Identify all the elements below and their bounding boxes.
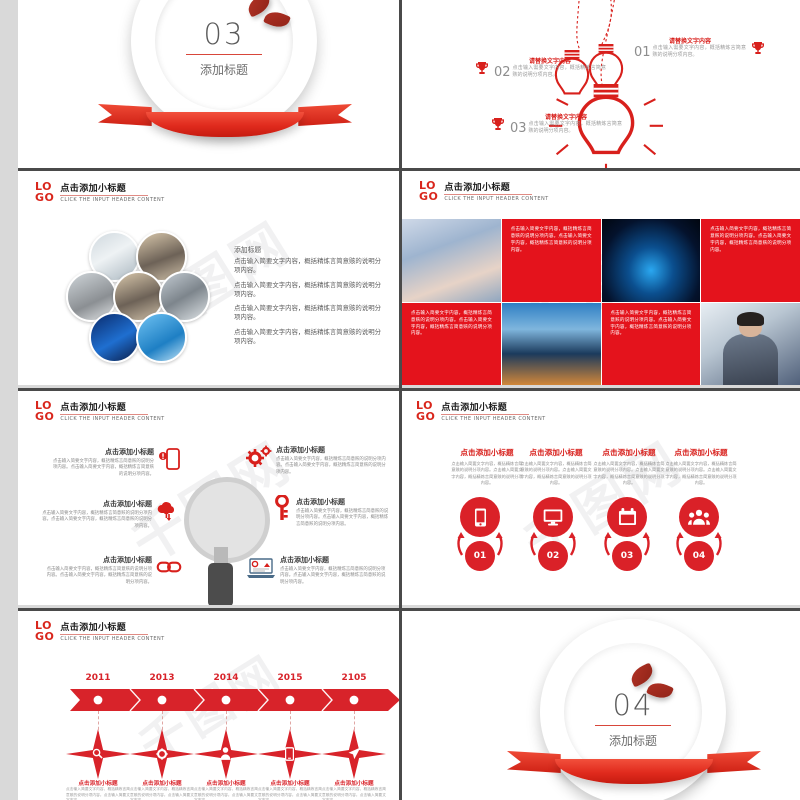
item-title: 点击添加小标题 xyxy=(50,447,154,457)
person-icon xyxy=(220,747,231,760)
timeline-body-5: 点击输入简要文字内容，概括精炼言简意赅的说明分项内容。点击输入简要文字内容。 xyxy=(322,787,386,800)
slide-timeline[interactable]: 千图网 LO GO 点击添加小标题 CLICK THE INPUT HEADER… xyxy=(18,611,399,800)
magnifier-item-2[interactable]: 点击添加小标题 点击输入简要文字内容，概括精炼言简意赅的说明分项内容。点击输入简… xyxy=(276,445,386,476)
header-rule xyxy=(60,634,148,635)
timeline-year-1: 2011 xyxy=(68,673,128,683)
ribbon-band xyxy=(146,112,304,137)
header-title-cn: 点击添加小标题 xyxy=(441,400,545,413)
photo-circle-7[interactable] xyxy=(136,312,187,363)
magnifier-handle xyxy=(208,563,233,605)
item-body: 点击输入简要文字内容，概括精炼言简意赅的说明分项内容。点击输入简要文字内容，概括… xyxy=(450,461,524,486)
item-body: 点击输入简要文字内容，概括精炼言简意赅的说明分项内容。点击输入简要文字内容，概括… xyxy=(592,461,666,486)
cell-businessman-photo[interactable] xyxy=(701,303,800,386)
timeline-chevron-bar xyxy=(70,689,399,711)
cell-night-city-photo[interactable] xyxy=(502,303,601,386)
bulb-item-body: 点击输入需要文字内容，概括精炼言简意赅的说明分项内容。 xyxy=(513,65,606,80)
bulb-item-01[interactable]: 请替换文字内容 01 点击输入需要文字内容，概括精炼言简意赅的说明分项内容。 xyxy=(634,36,746,60)
gear-icon xyxy=(156,748,168,760)
logo-line-2: GO xyxy=(35,192,54,203)
slide-photo-cluster[interactable]: 千图网 LO GO 点击添加小标题 CLICK THE INPUT HEADER… xyxy=(18,171,399,385)
header-title-cn: 点击添加小标题 xyxy=(444,180,548,193)
cluster-paragraph: 点击输入简要文字内容，概括精炼言简意赅的说明分项内容。 xyxy=(234,304,384,323)
slide-header: LO GO 点击添加小标题 CLICK THE INPUT HEADER CON… xyxy=(35,400,165,422)
timeline-body-3: 点击输入简要文字内容，概括精炼言简意赅的说明分项内容。点击输入简要文字内容。 xyxy=(194,787,258,800)
logo: LO GO xyxy=(35,181,54,203)
bulb-item-body: 点击输入需要文字内容，概括精炼言简意赅的说明分项内容。 xyxy=(653,45,746,60)
number-badge-02[interactable]: 02 xyxy=(538,541,568,571)
magnifier-item-4[interactable]: 点击添加小标题 点击输入简要文字内容，概括精炼言简意赅的说明分项内容。点击输入简… xyxy=(296,497,390,528)
slide-header: LO GO 点击添加小标题 CLICK THE INPUT HEADER CON… xyxy=(419,180,549,202)
divider-rule xyxy=(186,54,262,55)
timeline-body-2: 点击输入简要文字内容，概括精炼言简意赅的说明分项内容。点击输入简要文字内容。 xyxy=(130,787,194,800)
item-title: 点击添加小标题 xyxy=(519,447,593,458)
item-body: 点击输入简要文字内容，概括精炼言简意赅的说明分项内容。点击输入简要文字内容，概括… xyxy=(519,461,593,486)
logo-line-2: GO xyxy=(35,631,54,642)
header-title-cn: 点击添加小标题 xyxy=(60,400,164,413)
bulb-item-title: 请替换文字内容 xyxy=(494,56,606,65)
timeline-title-4: 点击添加小标题 xyxy=(258,779,322,787)
logo-line-2: GO xyxy=(416,411,435,422)
item-title: 点击添加小标题 xyxy=(450,447,524,458)
logo-line-2: GO xyxy=(35,411,54,422)
item-title: 点击添加小标题 xyxy=(276,445,386,455)
bulb-item-title: 请替换文字内容 xyxy=(510,112,622,121)
cell-blue-earth-photo[interactable] xyxy=(602,219,701,302)
slide-header: LO GO 点击添加小标题 CLICK THE INPUT HEADER CON… xyxy=(35,181,165,203)
item-body: 点击输入简要文字内容，概括精炼言简意赅的说明分项内容。点击输入简要文字内容，概括… xyxy=(40,511,152,530)
logo: LO GO xyxy=(419,180,438,202)
item-body: 点击输入简要文字内容，概括精炼言简意赅的说明分项内容。点击输入简要文字内容，概括… xyxy=(44,567,152,586)
photo-circle-6[interactable] xyxy=(89,312,140,363)
bulb-item-02[interactable]: 请替换文字内容 02 点击输入需要文字内容，概括精炼言简意赅的说明分项内容。 xyxy=(494,56,606,80)
bulb-item-03[interactable]: 请替换文字内容 03 点击输入需要文字内容，概括精炼言简意赅的说明分项内容。 xyxy=(510,112,622,136)
smartphone-icon xyxy=(474,508,487,527)
trophy-icon-01 xyxy=(750,40,766,56)
cell-body: 点击输入简要文字内容，概括精炼言简意赅的说明分项内容。点击输入简要文字内容，概括… xyxy=(610,311,691,339)
slide-grid: 03 添加标题 xyxy=(18,0,800,800)
circle-text-1: 点击添加小标题 点击输入简要文字内容，概括精炼言简意赅的说明分项内容。点击输入简… xyxy=(450,447,524,486)
divider-rule xyxy=(595,725,671,726)
item-title: 点击添加小标题 xyxy=(280,555,388,565)
magnifier-item-3[interactable]: 点击添加小标题 点击输入简要文字内容，概括精炼言简意赅的说明分项内容。点击输入简… xyxy=(40,499,152,530)
calendar-icon xyxy=(618,508,637,526)
trophy-icon-02 xyxy=(474,60,490,76)
cell-text[interactable]: 点击输入简要文字内容，概括精炼言简意赅的说明分项内容。点击输入简要文字内容，概括… xyxy=(502,219,601,302)
cell-text[interactable]: 点击输入简要文字内容，概括精炼言简意赅的说明分项内容。点击输入简要文字内容，概括… xyxy=(602,303,701,386)
number-badge-04[interactable]: 04 xyxy=(684,541,714,571)
header-title-en: CLICK THE INPUT HEADER CONTENT xyxy=(441,416,545,422)
cell-city-buildings-photo[interactable] xyxy=(402,219,501,302)
cell-body: 点击输入简要文字内容，概括精炼言简意赅的说明分项内容。点击输入简要文字内容，概括… xyxy=(710,227,791,255)
cloud-sync-icon xyxy=(155,499,179,523)
bulb-item-number: 01 xyxy=(634,45,651,60)
logo: LO GO xyxy=(35,400,54,422)
bulb-item-number: 02 xyxy=(494,65,511,80)
item-body: 点击输入简要文字内容，概括精炼言简意赅的说明分项内容。点击输入简要文字内容，概括… xyxy=(280,567,388,586)
cell-text[interactable]: 点击输入简要文字内容，概括精炼言简意赅的说明分项内容。点击输入简要文字内容，概括… xyxy=(701,219,800,302)
trophy-icon-03 xyxy=(490,116,506,132)
cluster-title: 添加标题 xyxy=(234,244,384,254)
timeline-title-1: 点击添加小标题 xyxy=(66,779,130,787)
cell-body: 点击输入简要文字内容，概括精炼言简意赅的说明分项内容。点击输入简要文字内容，概括… xyxy=(511,227,592,255)
item-title: 点击添加小标题 xyxy=(44,555,152,565)
logo: LO GO xyxy=(416,400,435,422)
bulb-item-title: 请替换文字内容 xyxy=(634,36,746,45)
thumbnail-sheet: 03 添加标题 xyxy=(0,0,800,800)
divider-number: 03 xyxy=(155,17,293,51)
key-icon xyxy=(274,495,290,521)
mobile-icon xyxy=(285,747,294,761)
circle-text-2: 点击添加小标题 点击输入简要文字内容，概括精炼言简意赅的说明分项内容。点击输入简… xyxy=(519,447,593,486)
timeline-title-2: 点击添加小标题 xyxy=(130,779,194,787)
people-icon xyxy=(688,509,710,525)
magnifier-item-6[interactable]: 点击添加小标题 点击输入简要文字内容，概括精炼言简意赅的说明分项内容。点击输入简… xyxy=(280,555,388,586)
link-chain-icon xyxy=(156,557,182,577)
header-title-cn: 点击添加小标题 xyxy=(60,181,164,194)
slide-header: LO GO 点击添加小标题 CLICK THE INPUT HEADER CON… xyxy=(35,620,165,642)
number-badge-03[interactable]: 03 xyxy=(612,541,642,571)
slide-section-divider-03[interactable]: 03 添加标题 xyxy=(18,0,399,168)
bulb-item-number: 03 xyxy=(510,121,527,136)
slide-four-circles[interactable]: 千图网 LO GO 点击添加小标题 CLICK THE INPUT HEADER… xyxy=(402,391,800,605)
header-rule xyxy=(441,414,529,415)
item-body: 点击输入简要文字内容，概括精炼言简意赅的说明分项内容。点击输入简要文字内容，概括… xyxy=(50,459,154,478)
header-rule xyxy=(444,194,532,195)
cluster-text-column: 添加标题 点击输入简要文字内容，概括精炼言简意赅的说明分项内容。 点击输入简要文… xyxy=(234,244,384,351)
slide-checkerboard[interactable]: 千图网 LO GO 点击添加小标题 CLICK THE INPUT HEADER… xyxy=(402,171,800,385)
timeline-year-2: 2013 xyxy=(132,673,192,683)
magnifier-item-5[interactable]: 点击添加小标题 点击输入简要文字内容，概括精炼言简意赅的说明分项内容。点击输入简… xyxy=(44,555,152,586)
timeline-year-4: 2015 xyxy=(260,673,320,683)
monitor-icon xyxy=(543,509,563,526)
logo-line-2: GO xyxy=(419,191,438,202)
header-title-cn: 点击添加小标题 xyxy=(60,620,164,633)
slide-section-divider-04[interactable]: 04 添加标题 xyxy=(402,611,800,800)
header-rule xyxy=(60,195,148,196)
watermark: 千图网 xyxy=(402,391,800,605)
header-title-en: CLICK THE INPUT HEADER CONTENT xyxy=(60,416,164,422)
bulbs-illustration xyxy=(402,0,800,168)
ribbon-band xyxy=(555,759,713,784)
number-badge-01[interactable]: 01 xyxy=(465,541,495,571)
item-title: 点击添加小标题 xyxy=(592,447,666,458)
item-title: 点击添加小标题 xyxy=(664,447,738,458)
header-rule xyxy=(60,414,148,415)
logo: LO GO xyxy=(35,620,54,642)
cluster-paragraph: 点击输入简要文字内容，概括精炼言简意赅的说明分项内容。 xyxy=(234,257,384,276)
circle-text-4: 点击添加小标题 点击输入简要文字内容，概括精炼言简意赅的说明分项内容。点击输入简… xyxy=(664,447,738,486)
item-body: 点击输入简要文字内容，概括精炼言简意赅的说明分项内容。点击输入简要文字内容，概括… xyxy=(276,457,386,476)
header-title-en: CLICK THE INPUT HEADER CONTENT xyxy=(444,196,548,202)
timeline-year-3: 2014 xyxy=(196,673,256,683)
divider-subtitle: 添加标题 xyxy=(564,732,702,749)
timeline-title-3: 点击添加小标题 xyxy=(194,779,258,787)
item-title: 点击添加小标题 xyxy=(296,497,390,507)
cell-body: 点击输入简要文字内容，概括精炼言简意赅的说明分项内容。点击输入简要文字内容，概括… xyxy=(411,311,492,339)
cell-text[interactable]: 点击输入简要文字内容，概括精炼言简意赅的说明分项内容。点击输入简要文字内容，概括… xyxy=(402,303,501,386)
timeline-year-5: 2105 xyxy=(324,673,384,683)
timeline-body-1: 点击输入简要文字内容，概括精炼言简意赅的说明分项内容。点击输入简要文字内容。 xyxy=(66,787,130,800)
checkerboard-grid: 点击输入简要文字内容，概括精炼言简意赅的说明分项内容。点击输入简要文字内容，概括… xyxy=(402,219,800,385)
paperplane-icon xyxy=(348,747,361,760)
circle-text-3: 点击添加小标题 点击输入简要文字内容，概括精炼言简意赅的说明分项内容。点击输入简… xyxy=(592,447,666,486)
gears-icon xyxy=(246,445,272,469)
divider-number: 04 xyxy=(564,688,702,722)
header-title-en: CLICK THE INPUT HEADER CONTENT xyxy=(60,636,164,642)
timeline-body-4: 点击输入简要文字内容，概括精炼言简意赅的说明分项内容。点击输入简要文字内容。 xyxy=(258,787,322,800)
header-title-en: CLICK THE INPUT HEADER CONTENT xyxy=(60,197,164,203)
item-body: 点击输入简要文字内容，概括精炼言简意赅的说明分项内容。点击输入简要文字内容，概括… xyxy=(664,461,738,486)
slide-magnifier[interactable]: 千图网 LO GO 点击添加小标题 CLICK THE INPUT HEADER… xyxy=(18,391,399,605)
bulb-item-body: 点击输入需要文字内容，概括精炼言简意赅的说明分项内容。 xyxy=(529,121,622,136)
magnifier-item-1[interactable]: 点击添加小标题 点击输入简要文字内容，概括精炼言简意赅的说明分项内容。点击输入简… xyxy=(50,447,154,478)
item-title: 点击添加小标题 xyxy=(40,499,152,509)
mobile-alert-icon xyxy=(158,447,182,471)
timeline-title-5: 点击添加小标题 xyxy=(322,779,386,787)
divider-subtitle: 添加标题 xyxy=(155,61,293,78)
search-icon xyxy=(92,748,103,759)
item-body: 点击输入简要文字内容，概括精炼言简意赅的说明分项内容。点击输入简要文字内容，概括… xyxy=(296,509,390,528)
laptop-icon xyxy=(246,557,276,579)
slide-header: LO GO 点击添加小标题 CLICK THE INPUT HEADER CON… xyxy=(416,400,546,422)
cluster-paragraph: 点击输入简要文字内容，概括精炼言简意赅的说明分项内容。 xyxy=(234,328,384,347)
cluster-paragraph: 点击输入简要文字内容，概括精炼言简意赅的说明分项内容。 xyxy=(234,281,384,300)
slide-lightbulb-list[interactable]: 请替换文字内容 01 点击输入需要文字内容，概括精炼言简意赅的说明分项内容。 请… xyxy=(402,0,800,168)
